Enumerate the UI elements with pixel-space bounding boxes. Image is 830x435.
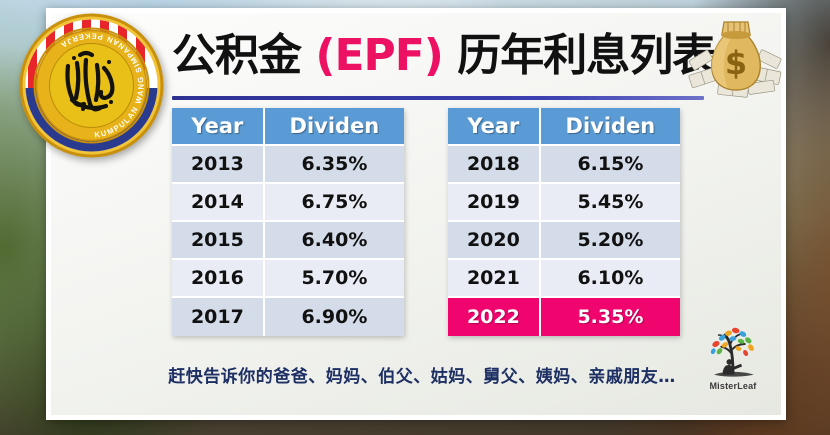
title-text-part2: 历年利息列表 <box>443 30 715 81</box>
cell-year: 2022 <box>448 298 541 336</box>
cell-year: 2014 <box>172 184 265 222</box>
dividend-table-right: Year Dividen 2018 6.15% 2019 5.45% 2020 … <box>448 108 680 336</box>
table-row: 2019 5.45% <box>448 184 680 222</box>
cell-dividend: 6.15% <box>541 146 680 184</box>
cell-dividend: 6.75% <box>265 184 404 222</box>
cell-dividend: 6.90% <box>265 298 404 336</box>
poster-title-block: 公积金 (EPF) 历年利息列表 <box>172 34 732 78</box>
tree-reader-logo-icon <box>698 326 768 380</box>
title-text-epf: (EPF) <box>315 30 443 81</box>
cell-year: 2018 <box>448 146 541 184</box>
cell-dividend: 5.70% <box>265 260 404 298</box>
table-header-row: Year Dividen <box>448 108 680 146</box>
cell-dividend: 5.35% <box>541 298 680 336</box>
cell-year: 2019 <box>448 184 541 222</box>
epf-kwsp-logo-icon: KUMPULAN WANG SIMPANAN PEKERJA <box>14 8 169 163</box>
column-header-dividen: Dividen <box>541 108 680 146</box>
column-header-year: Year <box>172 108 265 146</box>
cell-dividend: 5.20% <box>541 222 680 260</box>
table-header-row: Year Dividen <box>172 108 404 146</box>
misterleaf-brand: MisterLeaf <box>690 326 776 391</box>
cell-year: 2013 <box>172 146 265 184</box>
cell-dividend: 5.45% <box>541 184 680 222</box>
table-row: 2021 6.10% <box>448 260 680 298</box>
cell-year: 2015 <box>172 222 265 260</box>
cell-year: 2017 <box>172 298 265 336</box>
cell-year: 2016 <box>172 260 265 298</box>
table-row: 2014 6.75% <box>172 184 404 222</box>
money-bag-glyph: $ <box>688 16 784 102</box>
table-row: 2020 5.20% <box>448 222 680 260</box>
table-row: 2015 6.40% <box>172 222 404 260</box>
dividend-table-left: Year Dividen 2013 6.35% 2014 6.75% 2015 … <box>172 108 404 336</box>
title-underline-rule <box>172 96 704 100</box>
cell-year: 2021 <box>448 260 541 298</box>
epf-kwsp-logo: KUMPULAN WANG SIMPANAN PEKERJA <box>14 8 169 163</box>
table-row-highlighted: 2022 5.35% <box>448 298 680 336</box>
page-title: 公积金 (EPF) 历年利息列表 <box>172 34 732 78</box>
cell-dividend: 6.40% <box>265 222 404 260</box>
table-row: 2016 5.70% <box>172 260 404 298</box>
table-row: 2013 6.35% <box>172 146 404 184</box>
svg-text:$: $ <box>725 44 747 82</box>
column-header-dividen: Dividen <box>265 108 404 146</box>
cell-dividend: 6.35% <box>265 146 404 184</box>
table-row: 2018 6.15% <box>448 146 680 184</box>
table-row: 2017 6.90% <box>172 298 404 336</box>
title-text-part1: 公积金 <box>172 30 315 81</box>
brand-label: MisterLeaf <box>690 381 776 391</box>
money-bag-icon: $ <box>688 16 784 102</box>
cell-year: 2020 <box>448 222 541 260</box>
cell-dividend: 6.10% <box>541 260 680 298</box>
column-header-year: Year <box>448 108 541 146</box>
